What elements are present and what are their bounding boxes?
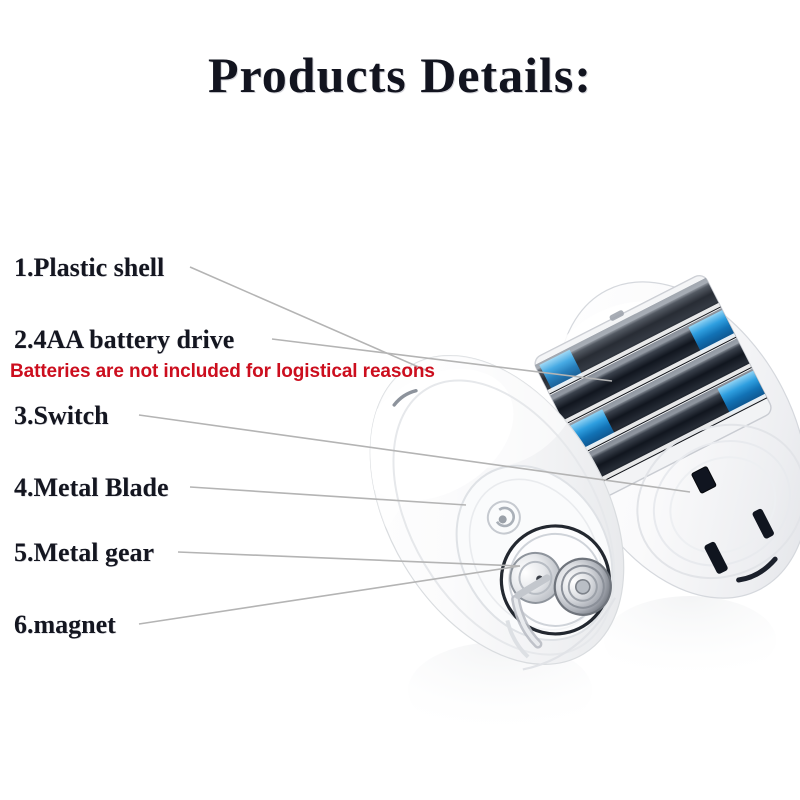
leader-line-1 [190,267,430,372]
battery-note: Batteries are not included for logistica… [10,361,435,383]
callout-label-2: 2.4AA battery drive [14,325,234,355]
callout-label-1: 1.Plastic shell [14,253,164,283]
page-title: Products Details: [0,46,800,104]
callout-label-6: 6.magnet [14,610,116,640]
callout-label-5: 5.Metal gear [14,538,154,568]
product-illustration [0,0,800,800]
callout-label-4: 4.Metal Blade [14,473,169,503]
product-details-infographic: Products Details: 1.Plastic shell 2.4AA … [0,0,800,800]
callout-label-3: 3.Switch [14,401,109,431]
reflection-right [604,596,776,684]
